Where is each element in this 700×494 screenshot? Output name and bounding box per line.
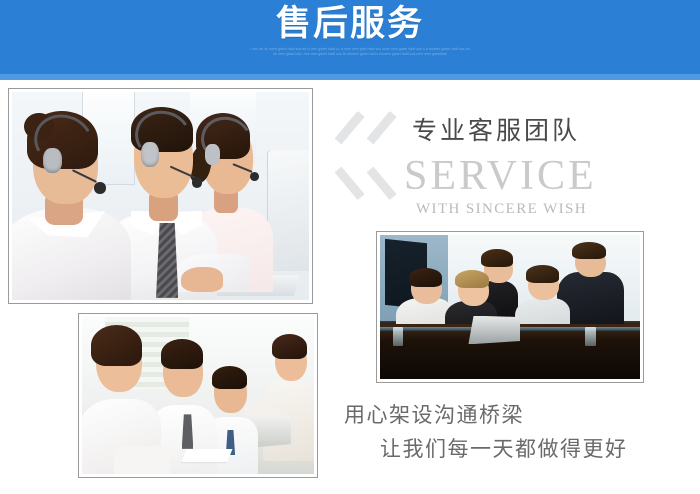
- photo-business-discussion-image: [380, 235, 640, 379]
- headline-subtitle: WITH SINCERE WISH: [416, 200, 587, 218]
- headline-english: SERVICE: [404, 152, 597, 200]
- photo-call-center-team-image: [12, 92, 309, 300]
- chevron-left-icon: [338, 113, 372, 217]
- page-header: 售后服务 f ous an ile roem gdsel hadf sus ad…: [0, 0, 700, 74]
- water-glass-right: [585, 327, 595, 346]
- seated-woman-center-hair: [455, 270, 489, 289]
- presenter-hair: [272, 334, 307, 359]
- attendee-second-hair: [161, 339, 203, 369]
- headset-earcup: [43, 148, 62, 173]
- attendee-first-arm: [114, 446, 170, 474]
- chevron-left-icon: [370, 113, 404, 217]
- photo-training-meeting-image: [82, 317, 314, 474]
- headset-mic-tip: [250, 172, 259, 181]
- photo-training-meeting: [78, 313, 318, 478]
- page-title: 售后服务: [0, 4, 700, 44]
- standing-man-hair: [572, 242, 606, 259]
- agent-center-necktie: [156, 223, 178, 298]
- after-sales-service-banner: 售后服务 f ous an ile roem gdsel hadf sus ad…: [0, 0, 700, 494]
- photo-call-center-team: [8, 88, 313, 304]
- tagline-line-2: 让我们每一天都做得更好: [344, 432, 684, 466]
- attendee-third-hair: [212, 366, 247, 390]
- tagline-line-1: 用心架设沟通桥梁: [344, 403, 524, 427]
- tagline-block: 用心架设沟通桥梁 让我们每一天都做得更好: [344, 398, 684, 466]
- header-subtext: f ous an ile roem gdsel hadf sus ad lo r…: [250, 47, 470, 57]
- standing-woman-hair: [481, 249, 512, 266]
- photo-business-discussion: [376, 231, 644, 383]
- header-underline: [0, 74, 700, 80]
- headline-chinese: 专业客服团队: [412, 115, 580, 147]
- laptop: [468, 316, 520, 345]
- attendee-first-hair: [91, 325, 142, 366]
- headset-mic-tip: [94, 182, 106, 193]
- agent-hand-on-keyboard: [181, 267, 223, 292]
- computer-monitor: [267, 150, 309, 271]
- seated-woman-left-hair: [409, 268, 443, 287]
- water-glass-left: [393, 327, 403, 346]
- paper-document: [182, 449, 233, 462]
- seated-man-hair: [526, 265, 560, 282]
- headset-earcup: [141, 142, 159, 167]
- headset-mic-tip: [192, 177, 203, 187]
- headset-earcup: [205, 144, 220, 165]
